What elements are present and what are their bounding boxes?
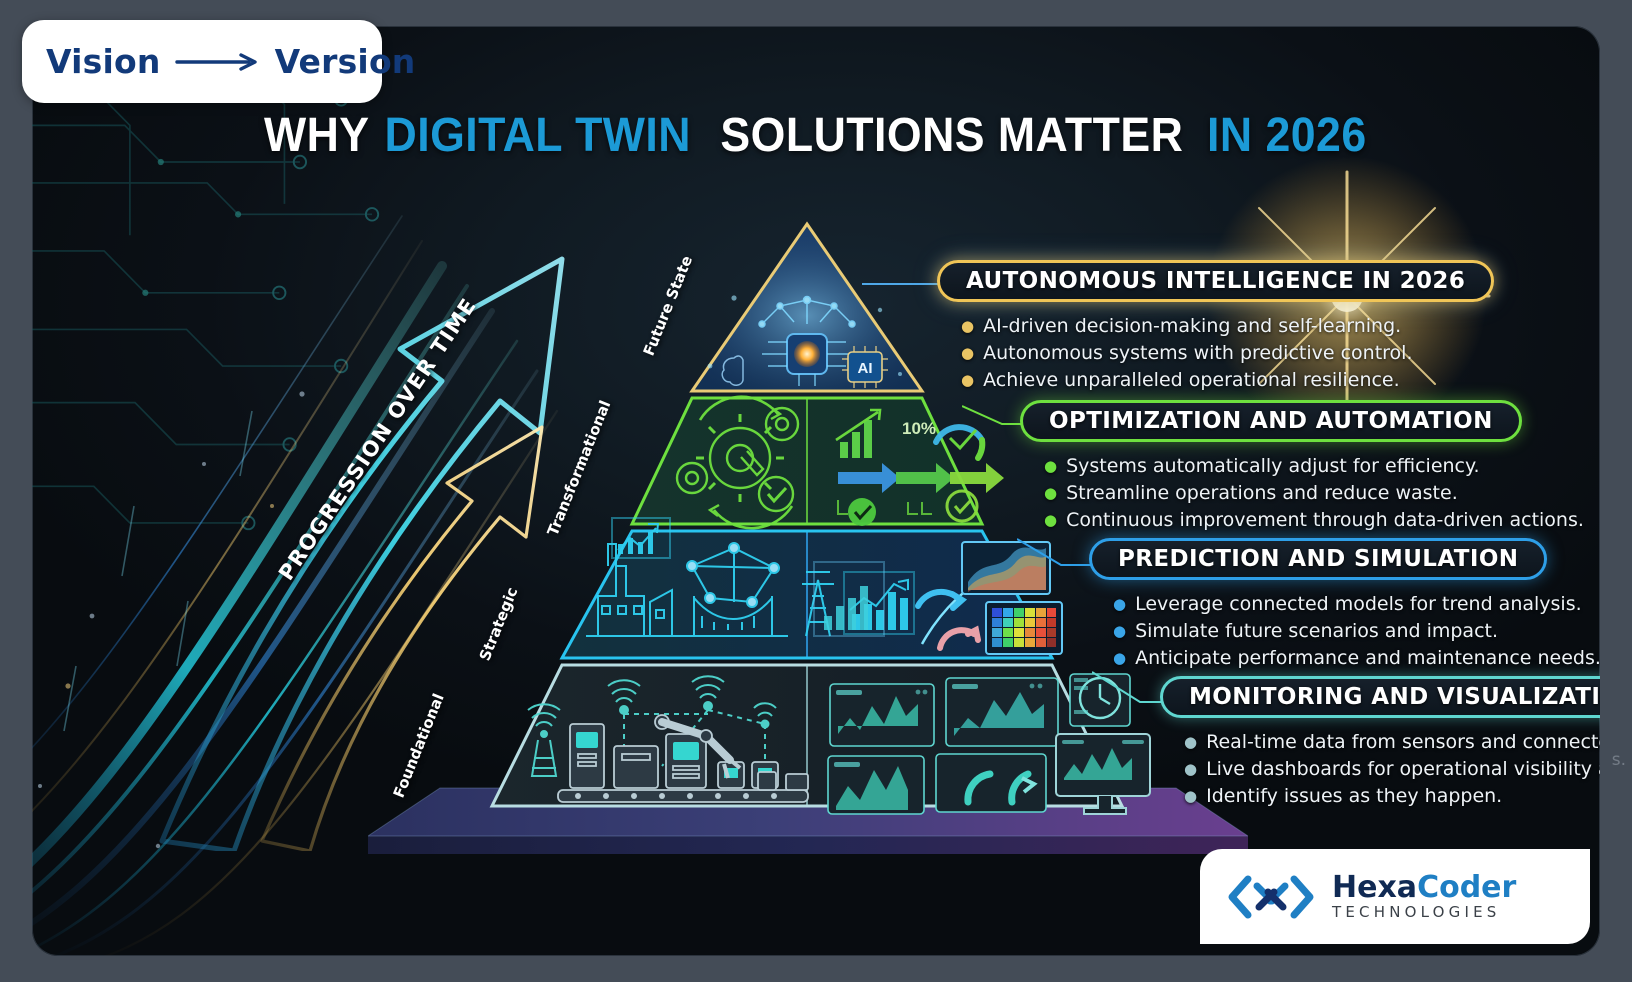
bullet-text: Live dashboards for operational visibili… [1206, 756, 1600, 783]
bullet-item: ● Identify issues as they happen. [1184, 783, 1600, 810]
title-part-solutions-matter: SOLUTIONS MATTER [720, 108, 1183, 163]
callout-title-pill-1[interactable]: AUTONOMOUS INTELLIGENCE IN 2026 [937, 260, 1494, 302]
bullet-item: ● Achieve unparalleled operational resil… [961, 367, 1494, 394]
title-part-why: WHY [264, 108, 370, 163]
callout-autonomous-intelligence[interactable]: AUTONOMOUS INTELLIGENCE IN 2026 ● AI-dri… [937, 260, 1494, 394]
bullet-item: ● Leverage connected models for trend an… [1113, 591, 1600, 618]
bullet-text: Systems automatically adjust for efficie… [1066, 453, 1479, 480]
bullet-dot-icon: ● [1113, 624, 1126, 639]
logo-name-coder: Coder [1417, 870, 1516, 905]
bullet-text: AI-driven decision-making and self-learn… [983, 313, 1401, 340]
callout-title-pill-4[interactable]: MONITORING AND VISUALIZATION [1160, 676, 1600, 718]
bullet-dot-icon: ● [1044, 459, 1057, 474]
bullet-text: Real-time data from sensors and connecte… [1206, 729, 1600, 756]
bullet-item: ● Simulate future scenarios and impact. [1113, 618, 1600, 645]
logo-name-hexa: Hexa [1332, 870, 1417, 905]
bullet-item: ● Continuous improvement through data-dr… [1044, 507, 1584, 534]
callout-title-pill-2[interactable]: OPTIMIZATION AND AUTOMATION [1020, 400, 1522, 442]
long-right-arrow-icon [175, 52, 261, 72]
bullet-dot-icon: ● [1184, 789, 1197, 804]
callout-optimization-automation[interactable]: OPTIMIZATION AND AUTOMATION ● Systems au… [1020, 400, 1584, 534]
callout-bullets-4: ● Real-time data from sensors and connec… [1160, 729, 1600, 810]
bullet-item: ● Systems automatically adjust for effic… [1044, 453, 1584, 480]
logo-subtitle: TECHNOLOGIES [1332, 903, 1516, 921]
callout-prediction-simulation[interactable]: PREDICTION AND SIMULATION ● Leverage con… [1089, 538, 1600, 672]
hexacoder-brackets-icon [1226, 869, 1316, 925]
infographic-card: AI [32, 26, 1600, 956]
bullet-text: Simulate future scenarios and impact. [1135, 618, 1498, 645]
bullet-dot-icon: ● [1113, 651, 1126, 666]
hexacoder-logo[interactable]: HexaCoder TECHNOLOGIES [1200, 849, 1590, 944]
title-part-in-2026: IN 2026 [1207, 108, 1367, 163]
bullet-dot-icon: ● [961, 373, 974, 388]
bullet-text: Autonomous systems with predictive contr… [983, 340, 1412, 367]
page-title: WHY DIGITAL TWIN SOLUTIONS MATTER IN 202… [32, 108, 1600, 163]
bullet-text: Identify issues as they happen. [1206, 783, 1502, 810]
bullet-dot-icon: ● [961, 346, 974, 361]
callout-title-pill-3[interactable]: PREDICTION AND SIMULATION [1089, 538, 1547, 580]
callout-bullets-2: ● Systems automatically adjust for effic… [1020, 453, 1584, 534]
badge-word-vision: Vision [46, 42, 161, 81]
logo-name: HexaCoder [1332, 872, 1516, 904]
bullet-item: ● AI-driven decision-making and self-lea… [961, 313, 1494, 340]
bullet-text: Achieve unparalleled operational resilie… [983, 367, 1400, 394]
bullet-text: Anticipate performance and maintenance n… [1135, 645, 1600, 672]
title-part-digital-twin: DIGITAL TWIN [385, 108, 691, 163]
bullet-text: Streamline operations and reduce waste. [1066, 480, 1458, 507]
overflow-text-artifact: s. [1612, 750, 1626, 770]
bullet-dot-icon: ● [1184, 762, 1197, 777]
bullet-dot-icon: ● [1184, 735, 1197, 750]
bullet-dot-icon: ● [1113, 597, 1126, 612]
callout-monitoring-visualization[interactable]: MONITORING AND VISUALIZATION ● Real-time… [1160, 676, 1600, 810]
svg-text:AI: AI [858, 360, 873, 377]
callout-bullets-1: ● AI-driven decision-making and self-lea… [937, 313, 1494, 394]
bullet-dot-icon: ● [961, 319, 974, 334]
badge-word-version: Version [275, 42, 416, 81]
bullet-item: ● Autonomous systems with predictive con… [961, 340, 1494, 367]
bullet-item: ● Live dashboards for operational visibi… [1184, 756, 1600, 783]
infographic-stage: AI [0, 0, 1632, 982]
bullet-text: Leverage connected models for trend anal… [1135, 591, 1582, 618]
bullet-item: ● Streamline operations and reduce waste… [1044, 480, 1584, 507]
bullet-item: ● Real-time data from sensors and connec… [1184, 729, 1600, 756]
bullet-item: ● Anticipate performance and maintenance… [1113, 645, 1600, 672]
logo-wordmark: HexaCoder TECHNOLOGIES [1332, 872, 1516, 922]
vision-to-version-badge[interactable]: Vision Version [22, 20, 382, 103]
tier-inline-label-percent: 10% [902, 419, 936, 438]
callout-bullets-3: ● Leverage connected models for trend an… [1089, 591, 1600, 672]
bullet-text: Continuous improvement through data-driv… [1066, 507, 1584, 534]
bullet-dot-icon: ● [1044, 513, 1057, 528]
bullet-dot-icon: ● [1044, 486, 1057, 501]
